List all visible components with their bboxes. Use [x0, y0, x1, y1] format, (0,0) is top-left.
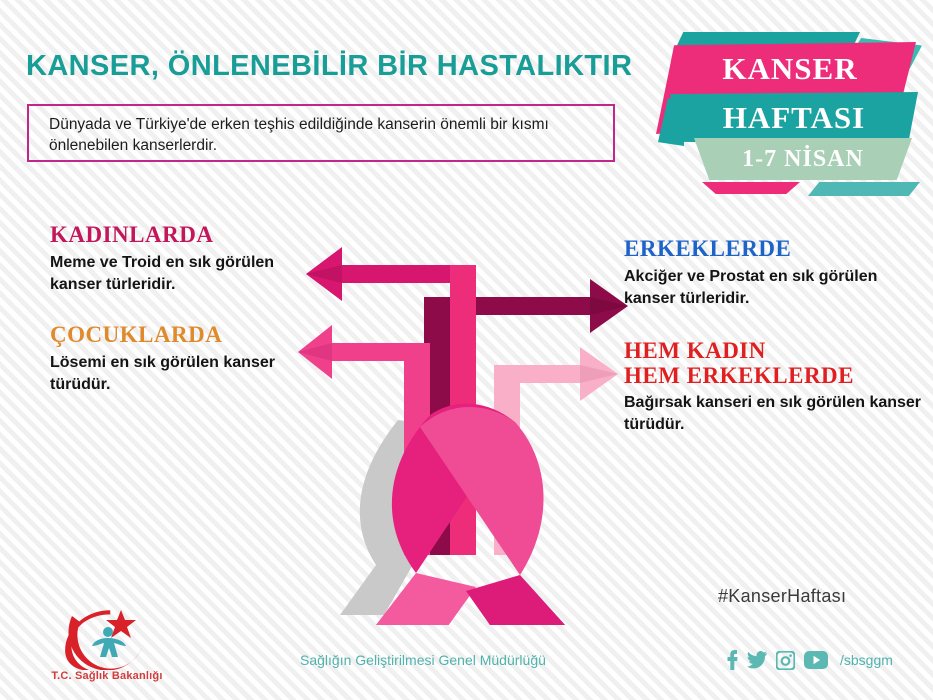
infographic-poster: KANSER, ÖNLENEBİLİR BİR HASTALIKTIR Düny… — [0, 0, 933, 700]
banner-line-2: HAFTASI — [670, 92, 918, 144]
section-men-heading: ERKEKLERDE — [624, 236, 924, 262]
left-text-column: KADINLARDA Meme ve Troid en sık görülen … — [50, 222, 320, 396]
ministry-logo: T.C. Sağlık Bakanlığı — [42, 608, 172, 686]
facebook-icon[interactable] — [726, 650, 738, 670]
section-both-heading-line1: HEM KADIN — [624, 338, 924, 363]
section-children: ÇOCUKLARDA Lösemi en sık görülen kanser … — [50, 322, 320, 396]
banner-accent-teal-bottom — [808, 182, 920, 196]
banner-line-3: 1-7 NİSAN — [694, 138, 912, 180]
banner-line-1: KANSER — [664, 42, 916, 96]
page-title: KANSER, ÖNLENEBİLİR BİR HASTALIKTIR — [26, 50, 632, 83]
campaign-banner: KANSER HAFTASI 1-7 NİSAN — [648, 32, 933, 202]
arrow-upper-right — [476, 279, 628, 333]
section-children-heading: ÇOCUKLARDA — [50, 322, 320, 348]
section-women-body: Meme ve Troid en sık görülen kanser türl… — [50, 252, 320, 296]
ministry-logo-icon — [42, 608, 172, 670]
section-children-body: Lösemi en sık görülen kanser türüdür. — [50, 352, 320, 396]
info-callout-box: Dünyada ve Türkiye'de erken teşhis edild… — [27, 104, 615, 162]
section-both-body: Bağırsak kanseri en sık görülen kanser t… — [624, 392, 924, 436]
section-women: KADINLARDA Meme ve Troid en sık görülen … — [50, 222, 320, 296]
banner-accent-pink-bottom — [702, 182, 800, 194]
ministry-logo-caption: T.C. Sağlık Bakanlığı — [42, 670, 172, 682]
section-women-heading: KADINLARDA — [50, 222, 320, 248]
ribbon-arrows-graphic — [280, 225, 660, 625]
info-callout-text: Dünyada ve Türkiye'de erken teşhis edild… — [49, 114, 609, 156]
section-both-heading-line2: HEM ERKEKLERDE — [624, 363, 924, 388]
social-handle: /sbsggm — [840, 652, 893, 668]
youtube-icon[interactable] — [804, 651, 828, 669]
twitter-icon[interactable] — [747, 651, 767, 669]
section-both: HEM KADIN HEM ERKEKLERDE Bağırsak kanser… — [624, 338, 924, 436]
hashtag-label: #KanserHaftası — [718, 586, 846, 607]
right-text-column: ERKEKLERDE Akciğer ve Prostat en sık gör… — [624, 236, 924, 436]
arrow-upper-left — [306, 247, 450, 301]
section-men-body: Akciğer ve Prostat en sık görülen kanser… — [624, 266, 924, 310]
social-links: /sbsggm — [726, 650, 893, 670]
footer-organization: Sağlığın Geliştirilmesi Genel Müdürlüğü — [300, 652, 546, 668]
section-men: ERKEKLERDE Akciğer ve Prostat en sık gör… — [624, 236, 924, 310]
instagram-icon[interactable] — [776, 651, 795, 670]
